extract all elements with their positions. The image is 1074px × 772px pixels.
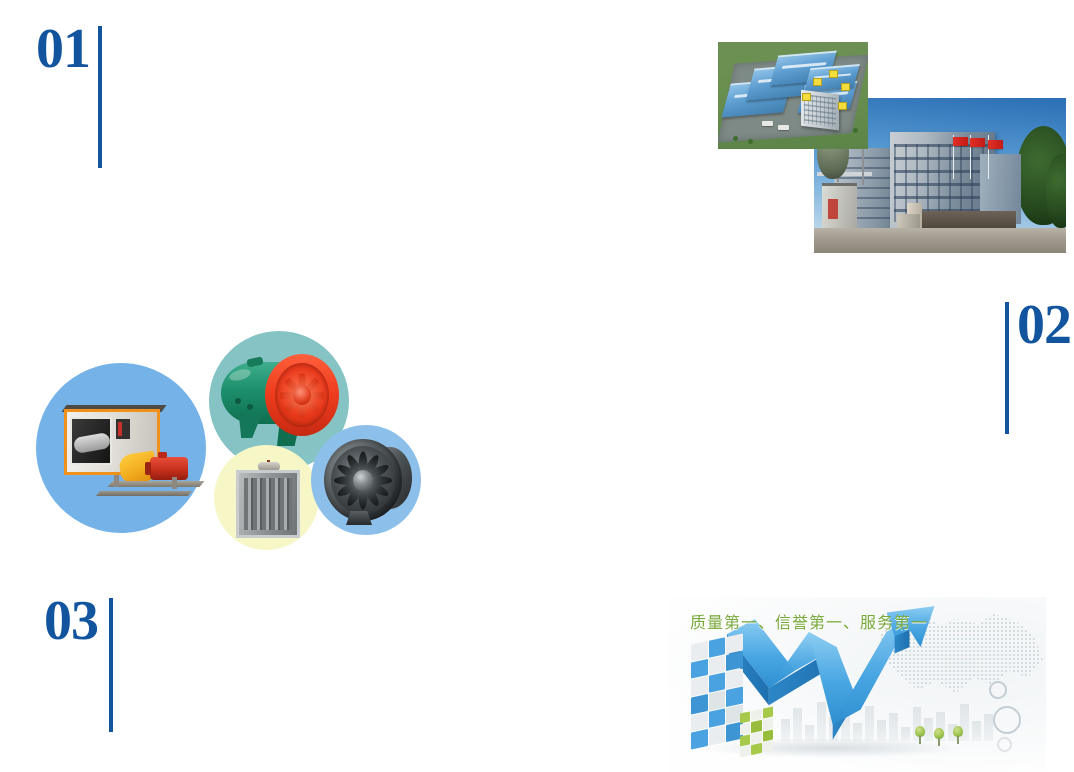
cabinet-fan-base-rail-2 (96, 491, 192, 496)
axial-fan-bolt-1 (235, 398, 241, 404)
section-number-02: 02 (1005, 300, 1071, 434)
section-number-03: 03 (44, 596, 113, 732)
axial-fan-red-impeller (275, 363, 329, 427)
green-white-cube-icon (740, 707, 773, 758)
ring-icon-small (989, 681, 1007, 699)
cabinet-fan-leg-1 (114, 475, 119, 487)
tree-icon-2 (933, 728, 945, 746)
photo-flag-2 (970, 138, 985, 147)
axial-fan-foot-1 (239, 416, 261, 438)
cabinet-fan-base-rail-1 (107, 481, 204, 487)
rendering-marker-4 (802, 93, 811, 101)
rendering-marker-5 (838, 102, 847, 110)
section-number-03-text: 03 (44, 596, 98, 646)
section-number-01: 01 (36, 24, 102, 168)
photo-flag-3 (988, 140, 1003, 149)
rendering-marker-3 (841, 83, 850, 91)
banner-slogan-text: 质量第一、信誉第一、服务第一 (690, 609, 928, 633)
section-02-divider (1005, 302, 1009, 434)
cabinet-fan-control-panel (116, 419, 130, 439)
section-01-divider (98, 26, 102, 168)
ring-icon-large (993, 706, 1021, 734)
product-metal-axial-fan (320, 435, 416, 527)
product-cabinet-centrifugal-fan (54, 403, 206, 508)
tree-icon-1 (914, 726, 926, 744)
product-image-cluster (36, 325, 421, 550)
metal-fan-rotor (331, 446, 395, 514)
product-air-damper (234, 460, 304, 540)
ring-icon-reflection (997, 737, 1012, 752)
cabinet-fan-motor (150, 457, 188, 480)
damper-frame (236, 470, 300, 538)
section-number-01-text: 01 (36, 24, 90, 74)
rendering-tree-3 (853, 128, 858, 133)
cabinet-fan-leg-2 (172, 477, 177, 489)
tree-icon-3 (952, 726, 964, 744)
growth-banner-image: 质量第一、信誉第一、服务第一 (668, 597, 1046, 772)
rendering-truck-2 (778, 125, 789, 130)
photo-gatehouse (822, 183, 857, 229)
axial-fan-bolt-2 (247, 404, 253, 410)
damper-blades (244, 478, 292, 530)
metal-fan-hub (353, 470, 373, 491)
photo-ground (814, 228, 1066, 253)
section-number-02-text: 02 (1017, 300, 1071, 350)
page-root: 01 02 03 (0, 0, 1074, 772)
rendering-truck-1 (762, 121, 773, 126)
rendering-marker-1 (829, 70, 838, 78)
photo-flag-1 (953, 137, 968, 146)
rendering-marker-2 (813, 78, 822, 86)
factory-aerial-rendering-image (718, 42, 868, 149)
axial-fan-hub (293, 385, 311, 405)
blue-white-cube-icon (691, 633, 743, 749)
section-03-divider (109, 598, 113, 732)
